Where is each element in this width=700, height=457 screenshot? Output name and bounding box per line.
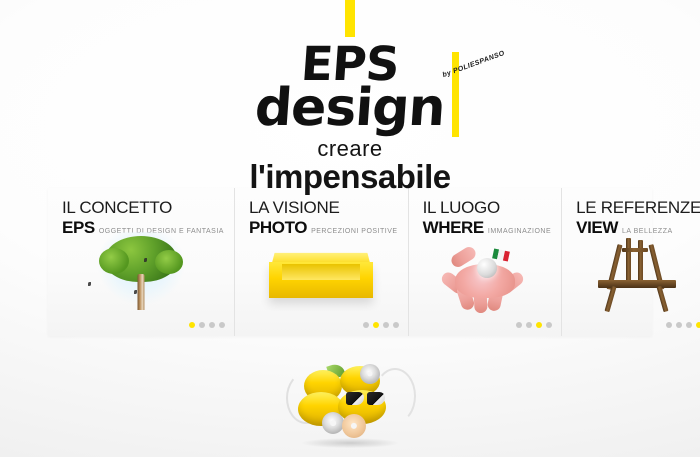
sunglasses-icon	[346, 392, 388, 407]
card-key: EPS	[62, 218, 95, 238]
pagination-dot-1[interactable]	[516, 322, 522, 328]
pagination-dot-3[interactable]	[383, 322, 389, 328]
falling-leaf-icon	[88, 282, 91, 286]
page-root: EPS design by POLIESPANSO creare l'impen…	[0, 0, 700, 457]
card-subrow: WHERE IMMAGINAZIONE	[423, 218, 552, 238]
card-la-visione[interactable]: LA VISIONE PHOTO PERCEZIONI POSITIVE	[235, 188, 409, 336]
easel-shape	[592, 238, 682, 312]
easel-tray	[598, 280, 676, 288]
card-subrow: VIEW LA BELLEZZA	[576, 218, 700, 238]
card-header: LA VISIONE PHOTO PERCEZIONI POSITIVE	[235, 199, 408, 238]
card-header: LE REFERENZE VIEW LA BELLEZZA	[562, 199, 700, 238]
brand-logo[interactable]: EPS design by POLIESPANSO creare l'impen…	[0, 46, 700, 196]
card-description: PERCEZIONI POSITIVE	[311, 228, 398, 235]
hero-shadow	[302, 438, 398, 448]
card-key: PHOTO	[249, 218, 307, 238]
hands-shape	[433, 240, 537, 312]
hands-globe-image	[409, 236, 562, 314]
falling-leaf-icon	[144, 258, 147, 262]
pagination-dot-4[interactable]	[696, 322, 700, 328]
pagination-dot-2[interactable]	[373, 322, 379, 328]
card-title: LE REFERENZE	[576, 199, 700, 217]
pagination-dot-2[interactable]	[199, 322, 205, 328]
card-header: IL LUOGO WHERE IMMAGINAZIONE	[409, 199, 562, 238]
card-pagination-dots[interactable]	[363, 322, 399, 328]
italy-flag-icon	[492, 248, 510, 261]
category-card-strip: IL CONCETTO EPS OGGETTI DI DESIGN E FANT…	[48, 188, 652, 336]
card-subrow: PHOTO PERCEZIONI POSITIVE	[249, 218, 398, 238]
tree-trunk	[137, 274, 144, 310]
logo-mark: EPS design by POLIESPANSO	[255, 46, 445, 129]
easel-leg	[604, 286, 616, 312]
card-title: IL CONCETTO	[62, 199, 224, 217]
card-pagination-dots[interactable]	[666, 322, 700, 328]
logo-line-design: design	[254, 87, 446, 130]
yellow-design-objects-image[interactable]	[288, 358, 412, 444]
easel-mast	[626, 238, 631, 282]
wooden-easel-image	[562, 236, 700, 314]
tagline: creare l'impensabile	[0, 136, 700, 196]
top-accent-stripe	[345, 0, 355, 37]
pagination-dot-2[interactable]	[526, 322, 532, 328]
card-il-luogo[interactable]: IL LUOGO WHERE IMMAGINAZIONE	[409, 188, 563, 336]
easel-mast	[638, 240, 643, 282]
pagination-dot-1[interactable]	[666, 322, 672, 328]
globe-icon	[477, 258, 497, 278]
card-key: VIEW	[576, 218, 618, 238]
yellow-sofa-image	[235, 236, 408, 314]
card-description: LA BELLEZZA	[622, 228, 673, 235]
card-description: IMMAGINAZIONE	[488, 228, 551, 235]
card-pagination-dots[interactable]	[189, 322, 225, 328]
disc-icon	[342, 414, 366, 438]
easel-leg	[656, 286, 668, 312]
tree-image	[48, 236, 234, 314]
card-key: WHERE	[423, 218, 484, 238]
tagline-impensabile: l'impensabile	[0, 158, 700, 196]
card-title: LA VISIONE	[249, 199, 398, 217]
disc-icon	[360, 364, 380, 384]
logo-byline: by POLIESPANSO	[442, 51, 506, 79]
pagination-dot-3[interactable]	[209, 322, 215, 328]
card-le-referenze[interactable]: LE REFERENZE VIEW LA BELLEZZA	[562, 188, 700, 336]
pagination-dot-3[interactable]	[536, 322, 542, 328]
pagination-dot-4[interactable]	[546, 322, 552, 328]
card-il-concetto[interactable]: IL CONCETTO EPS OGGETTI DI DESIGN E FANT…	[48, 188, 235, 336]
falling-leaf-icon	[134, 290, 137, 294]
pagination-dot-2[interactable]	[676, 322, 682, 328]
pagination-dot-1[interactable]	[189, 322, 195, 328]
pagination-dot-1[interactable]	[363, 322, 369, 328]
easel-crossbar	[622, 248, 648, 252]
card-title: IL LUOGO	[423, 199, 552, 217]
sofa-seat	[282, 264, 360, 280]
sofa-shape	[269, 252, 373, 300]
disc-icon	[322, 412, 344, 434]
pagination-dot-4[interactable]	[393, 322, 399, 328]
card-pagination-dots[interactable]	[516, 322, 552, 328]
pagination-dot-3[interactable]	[686, 322, 692, 328]
pagination-dot-4[interactable]	[219, 322, 225, 328]
